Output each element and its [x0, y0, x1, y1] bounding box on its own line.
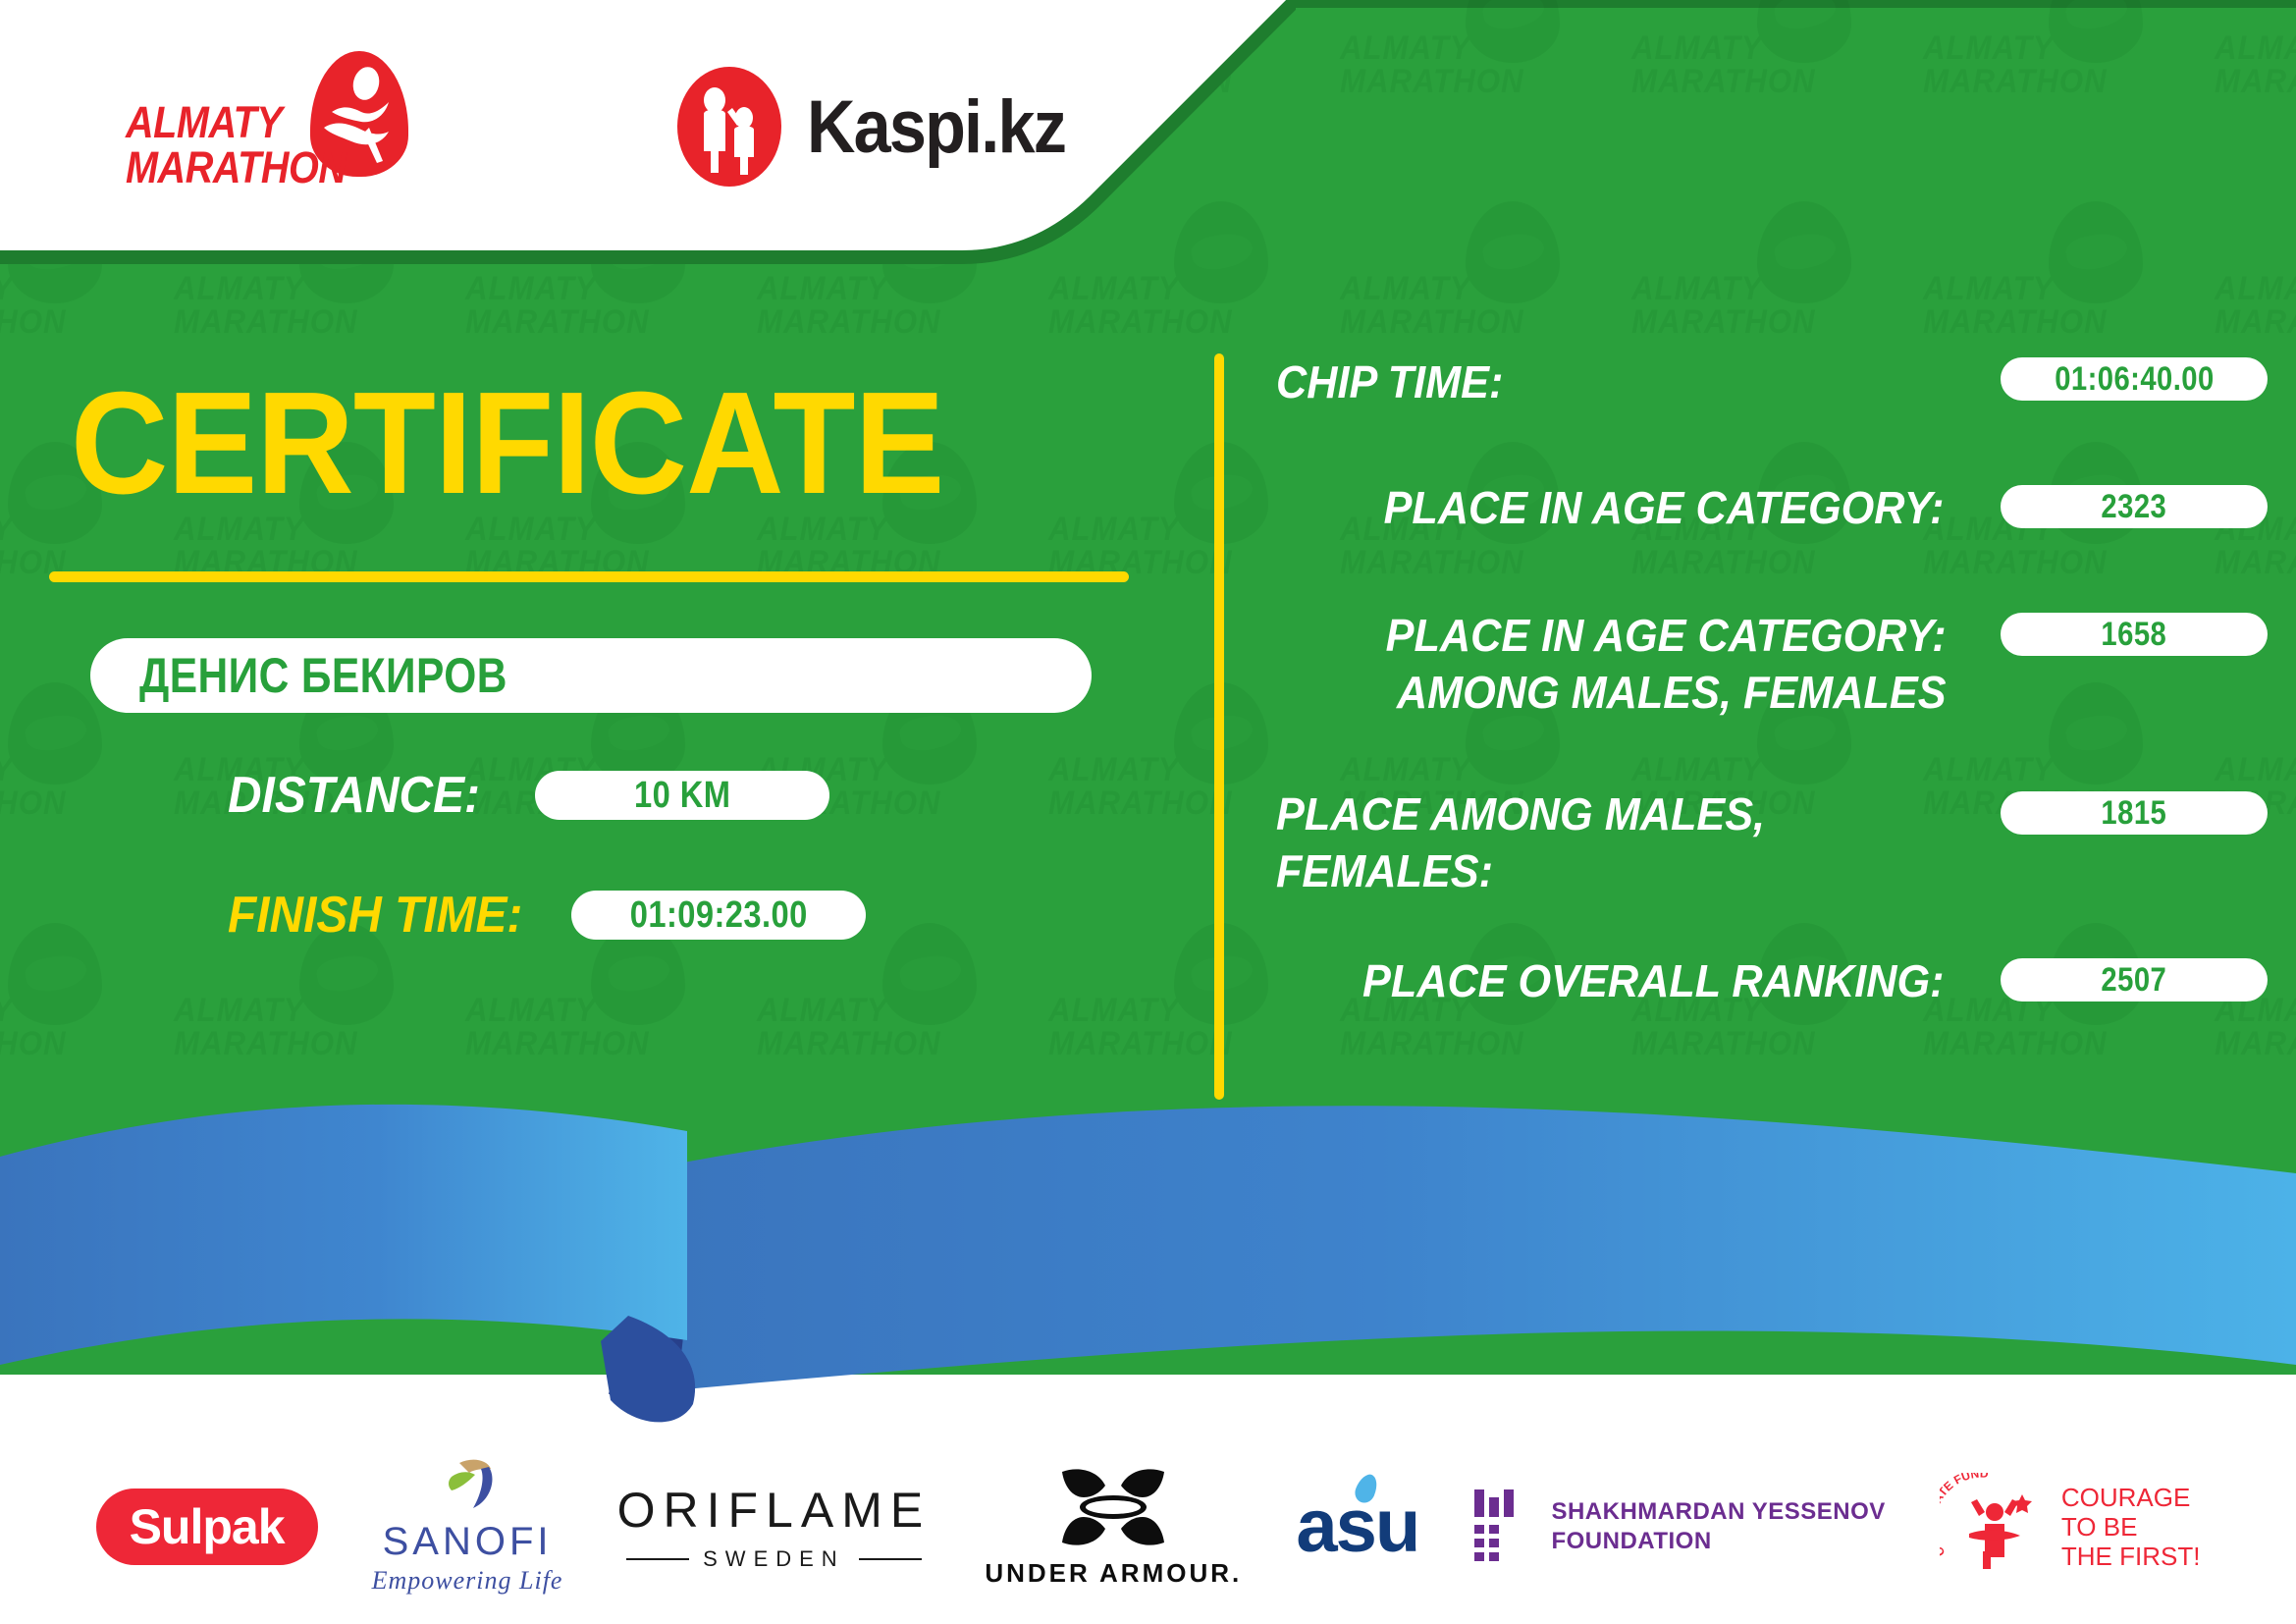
sponsor-bar: Sulpak SANOFI Empowering Life ORIFLAME — [0, 1429, 2296, 1624]
watermark-tile: ALMATYMARATHON — [1631, 0, 1857, 108]
watermark-tile: ALMATYMARATHON — [2215, 201, 2296, 349]
participant-name: ДЕНИС БЕКИРОВ — [139, 647, 507, 704]
watermark-tile: ALMATYMARATHON — [0, 682, 108, 830]
chip-time-label: CHIP TIME: — [1276, 353, 1945, 410]
finish-time-row: FINISH TIME: 01:09:23.00 — [228, 886, 866, 945]
yessenov-mark-icon — [1472, 1486, 1529, 1568]
place-age-category-label: PLACE IN AGE CATEGORY: — [1276, 479, 1945, 536]
place-age-category-gender-value: 1658 — [2102, 616, 2167, 654]
sponsor-yessenov: SHAKHMARDAN YESSENOV FOUNDATION — [1472, 1458, 1885, 1596]
asu-wordmark: asu — [1296, 1484, 1418, 1569]
oriflame-wordmark: ORIFLAME — [617, 1482, 932, 1539]
sponsor-sanofi: SANOFI Empowering Life — [372, 1458, 563, 1596]
sanofi-mark-icon — [432, 1457, 503, 1514]
sanofi-wordmark: SANOFI — [383, 1520, 553, 1564]
under-armour-wordmark: UNDER ARMOUR. — [985, 1558, 1242, 1589]
sponsor-under-armour: UNDER ARMOUR. — [985, 1458, 1242, 1596]
column-divider — [1214, 353, 1224, 1100]
oriflame-rule-right — [859, 1558, 922, 1560]
place-overall-label: PLACE OVERALL RANKING: — [1276, 952, 1945, 1009]
kaspi-wordmark: Kaspi.kz — [807, 84, 1065, 170]
almaty-marathon-logo: ALMATY MARATHON — [126, 51, 430, 184]
kaspi-figures-icon — [677, 67, 781, 187]
watermark-tile: ALMATYMARATHON — [1048, 923, 1274, 1070]
watermark-tile: ALMATYMARATHON — [1631, 201, 1857, 349]
kaspi-mark-icon — [677, 67, 781, 187]
yessenov-line2: FOUNDATION — [1551, 1527, 1885, 1556]
watermark-tile: ALMATYMARATHON — [1923, 201, 2149, 349]
watermark-tile: ALMATYMARATHON — [174, 923, 400, 1070]
certificate-page: ALMATYMARATHONALMATYMARATHONALMATYMARATH… — [0, 0, 2296, 1624]
distance-value: 10 KM — [634, 775, 730, 817]
watermark-tile: ALMATYMARATHON — [2215, 0, 2296, 108]
almaty-marathon-wordmark: ALMATY MARATHON — [126, 100, 347, 190]
place-age-category-value-pill: 2323 — [2001, 485, 2268, 528]
watermark-tile: ALMATYMARATHON — [1048, 682, 1274, 830]
marathon-line: MARATHON — [126, 145, 347, 190]
finish-time-value: 01:09:23.00 — [630, 894, 808, 937]
courage-line3: THE FIRST! — [2061, 1542, 2201, 1571]
place-among-gender-row: PLACE AMONG MALES, FEMALES: 1815 — [1276, 785, 2268, 899]
place-among-gender-label: PLACE AMONG MALES, FEMALES: — [1276, 785, 1848, 899]
chip-time-row: CHIP TIME: 01:06:40.00 — [1276, 353, 2268, 410]
watermark-tile: ALMATYMARATHON — [0, 923, 108, 1070]
watermark-tile: ALMATYMARATHON — [757, 923, 983, 1070]
chip-time-value: 01:06:40.00 — [2055, 360, 2214, 399]
courage-line1: COURAGE — [2061, 1483, 2201, 1512]
sponsor-asu: asu — [1296, 1458, 1418, 1596]
watermark-tile: ALMATYMARATHON — [1340, 201, 1566, 349]
place-age-category-row: PLACE IN AGE CATEGORY: 2323 — [1276, 479, 2268, 536]
header-panel: ALMATY MARATHON Kaspi.kz — [0, 0, 1296, 265]
sulpak-logo: Sulpak — [96, 1489, 318, 1565]
almaty-line: ALMATY — [126, 100, 347, 145]
distance-label: DISTANCE: — [228, 766, 480, 825]
place-overall-value-pill: 2507 — [2001, 958, 2268, 1001]
oriflame-sub: SWEDEN — [703, 1546, 845, 1572]
place-overall-row: PLACE OVERALL RANKING: 2507 — [1276, 952, 2268, 1009]
courage-runner-icon: CORPORATE FUND — [1940, 1473, 2048, 1581]
sponsor-sulpak: Sulpak — [96, 1458, 318, 1596]
courage-line2: TO BE — [2061, 1512, 2201, 1542]
place-age-category-value: 2323 — [2102, 488, 2167, 526]
place-among-gender-value: 1815 — [2102, 794, 2167, 833]
chip-time-value-pill: 01:06:40.00 — [2001, 357, 2268, 401]
svg-text:CORPORATE FUND: CORPORATE FUND — [1940, 1473, 1989, 1559]
title-underline — [49, 571, 1129, 582]
participant-name-field: ДЕНИС БЕКИРОВ — [90, 638, 1092, 713]
watermark-tile: ALMATYMARATHON — [1923, 0, 2149, 108]
distance-row: DISTANCE: 10 KM — [228, 766, 829, 825]
watermark-tile: ALMATYMARATHON — [1340, 0, 1566, 108]
place-among-gender-value-pill: 1815 — [2001, 791, 2268, 835]
under-armour-icon — [1044, 1464, 1182, 1550]
place-age-category-gender-label: PLACE IN AGE CATEGORY: AMONG MALES, FEMA… — [1309, 607, 1947, 721]
watermark-tile: ALMATYMARATHON — [465, 923, 691, 1070]
yessenov-line1: SHAKHMARDAN YESSENOV — [1551, 1497, 1885, 1527]
place-overall-value: 2507 — [2102, 961, 2167, 1000]
sponsor-courage: CORPORATE FUND COURAGE TO BE THE FIRS — [1940, 1458, 2201, 1596]
finish-time-value-pill: 01:09:23.00 — [571, 891, 866, 940]
place-age-category-gender-row: PLACE IN AGE CATEGORY: AMONG MALES, FEMA… — [1276, 607, 2268, 721]
certificate-title: CERTIFICATE — [71, 371, 943, 516]
finish-time-label: FINISH TIME: — [228, 886, 522, 945]
distance-value-pill: 10 KM — [535, 771, 829, 820]
place-age-category-gender-value-pill: 1658 — [2001, 613, 2268, 656]
sanofi-tagline: Empowering Life — [372, 1566, 563, 1596]
oriflame-rule-left — [626, 1558, 689, 1560]
watermark-tile: ALMATYMARATHON — [1048, 442, 1274, 589]
sponsor-oriflame: ORIFLAME SWEDEN — [617, 1458, 932, 1596]
event-ribbon: APRIL 21 st RUN FOR SENSATIONS — [0, 1070, 2296, 1443]
kaspi-logo: Kaspi.kz — [677, 67, 1094, 187]
